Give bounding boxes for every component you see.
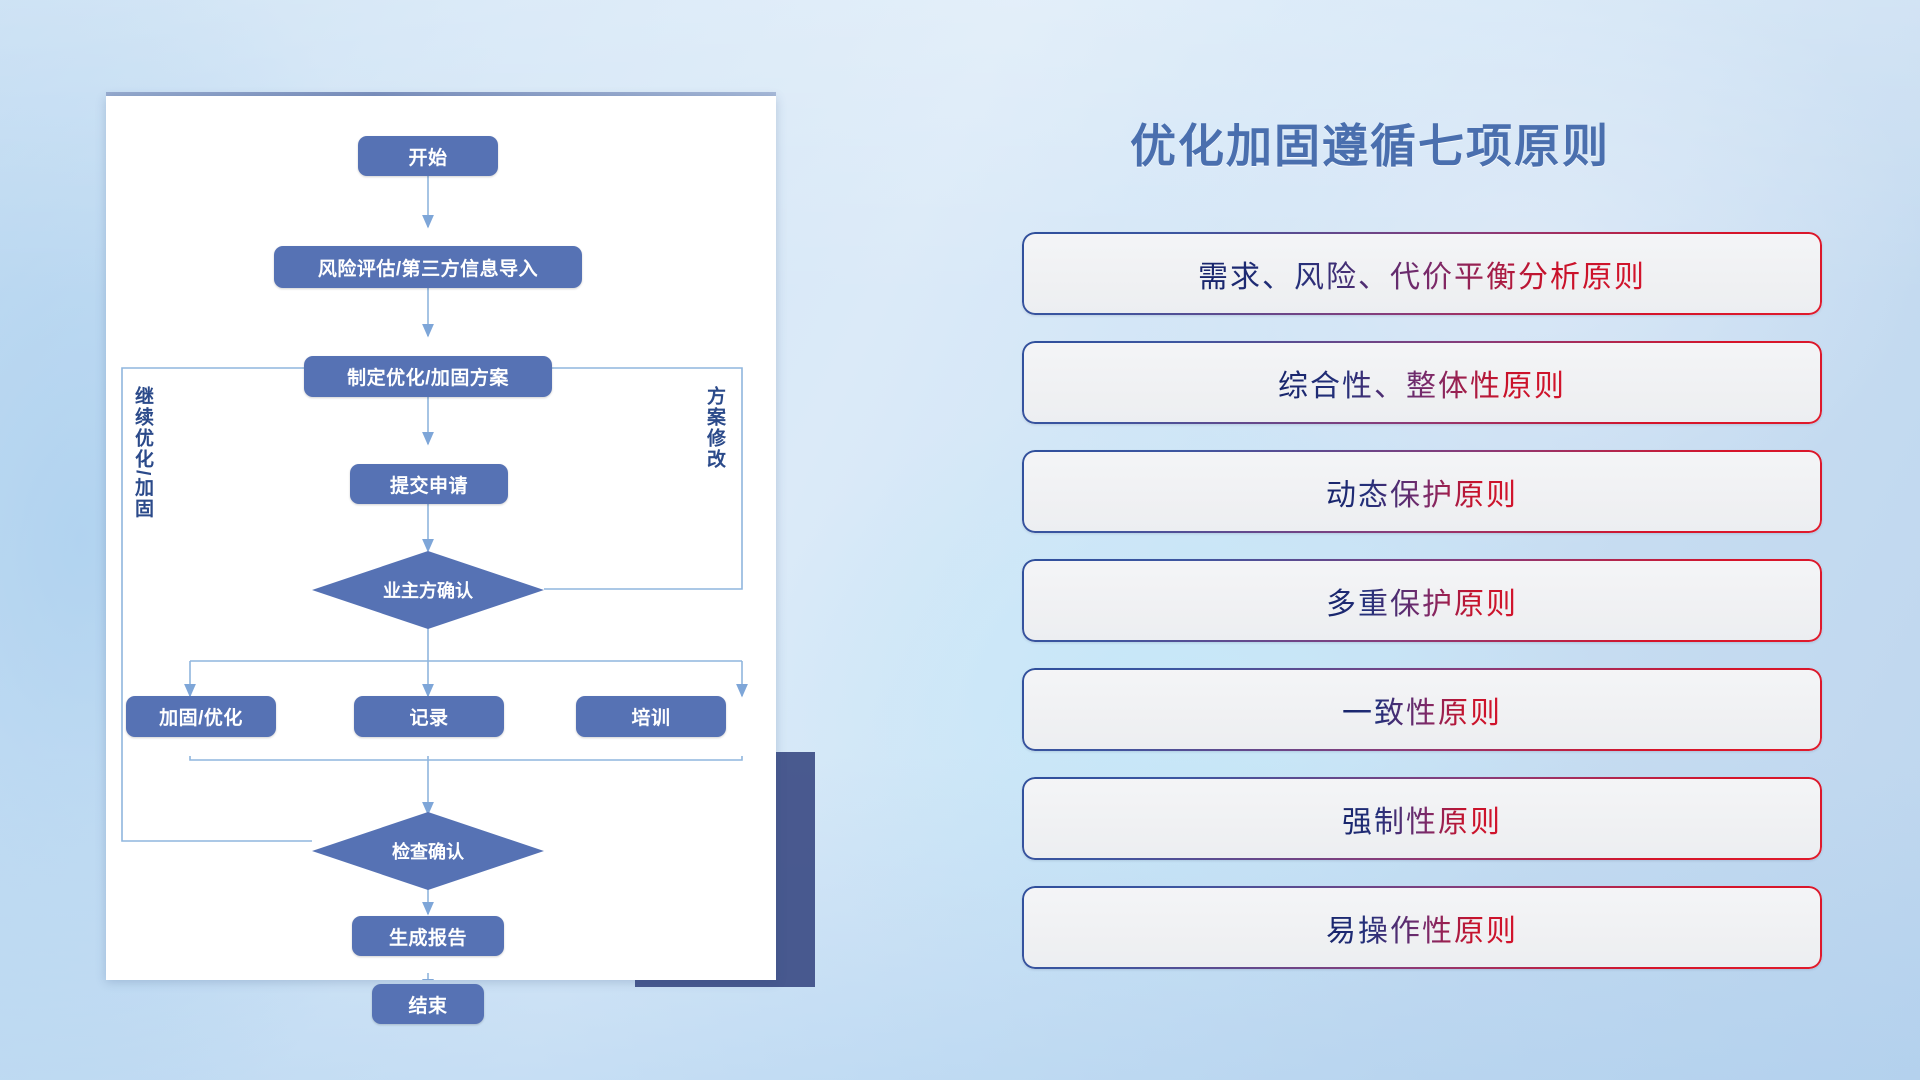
flow-node-label: 结束 <box>408 991 447 1018</box>
flow-node-reinforce-optimize[interactable]: 加固/优化 <box>126 696 276 737</box>
principle-label: 动态保护原则 <box>1326 470 1518 514</box>
flow-node-training[interactable]: 培训 <box>576 696 726 737</box>
principle-item-6[interactable]: 强制性原则 <box>1022 777 1822 860</box>
flow-node-label: 记录 <box>409 703 448 730</box>
edge-label-plan-revision: 方案修改 <box>704 386 724 470</box>
edge-label-continue-optimize: 继续优化/加固 <box>132 386 152 519</box>
flow-node-label: 加固/优化 <box>159 703 243 730</box>
principle-label: 易操作性原则 <box>1326 906 1518 950</box>
principle-label: 一致性原则 <box>1342 688 1502 732</box>
principles-title: 优化加固遵循七项原则 <box>1040 110 1700 176</box>
flow-node-label: 风险评估/第三方信息导入 <box>318 254 538 281</box>
flow-node-plan[interactable]: 制定优化/加固方案 <box>304 356 552 397</box>
principle-item-1[interactable]: 需求、风险、代价平衡分析原则 <box>1022 232 1822 315</box>
flow-node-label: 检查确认 <box>392 838 464 864</box>
principle-label: 强制性原则 <box>1342 797 1502 841</box>
flow-node-label: 开始 <box>408 143 447 170</box>
principle-item-5[interactable]: 一致性原则 <box>1022 668 1822 751</box>
principle-item-4[interactable]: 多重保护原则 <box>1022 559 1822 642</box>
flow-node-start[interactable]: 开始 <box>358 136 498 176</box>
flow-node-end[interactable]: 结束 <box>372 984 484 1024</box>
flow-node-record[interactable]: 记录 <box>354 696 504 737</box>
flow-node-label: 培训 <box>631 703 670 730</box>
principle-label: 综合性、整体性原则 <box>1278 361 1566 405</box>
flow-node-label: 业主方确认 <box>383 577 473 603</box>
principle-item-2[interactable]: 综合性、整体性原则 <box>1022 341 1822 424</box>
principles-list: 需求、风险、代价平衡分析原则 综合性、整体性原则 动态保护原则 多重保护原则 一… <box>1022 232 1822 995</box>
flow-node-label: 制定优化/加固方案 <box>347 363 509 390</box>
flowchart-card: 开始 风险评估/第三方信息导入 制定优化/加固方案 提交申请 业主方确认 加固/… <box>106 96 776 980</box>
flow-node-label: 提交申请 <box>390 471 468 498</box>
principle-item-3[interactable]: 动态保护原则 <box>1022 450 1822 533</box>
flow-node-generate-report[interactable]: 生成报告 <box>352 916 504 956</box>
flow-node-risk-assessment[interactable]: 风险评估/第三方信息导入 <box>274 246 582 288</box>
principle-label: 多重保护原则 <box>1326 579 1518 623</box>
flow-node-label: 生成报告 <box>389 923 467 950</box>
principle-item-7[interactable]: 易操作性原则 <box>1022 886 1822 969</box>
flow-node-submit-application[interactable]: 提交申请 <box>350 464 508 504</box>
principle-label: 需求、风险、代价平衡分析原则 <box>1198 252 1646 296</box>
